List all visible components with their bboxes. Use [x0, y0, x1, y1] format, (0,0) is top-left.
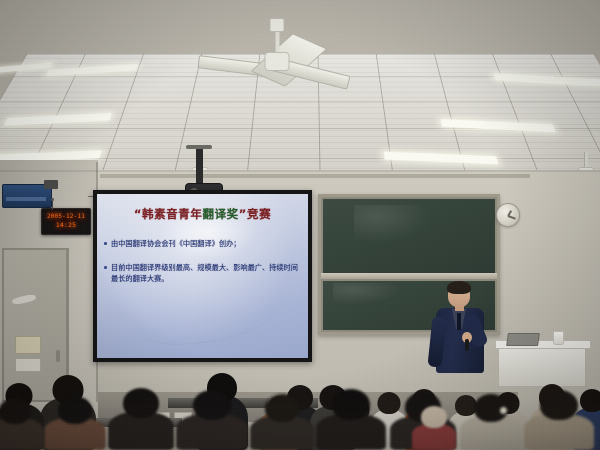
person-head	[540, 390, 578, 420]
blackboard-glare	[354, 205, 433, 244]
audience-member	[250, 400, 314, 450]
slide-title-highlight: 翻译奖	[202, 207, 238, 221]
amplifier-strip	[6, 197, 46, 201]
blackboard-upper-panel	[321, 197, 497, 279]
audience-member	[412, 410, 456, 450]
person-head	[0, 398, 31, 424]
audience-member	[524, 396, 594, 450]
audience	[0, 330, 600, 450]
person-head	[265, 394, 299, 422]
led-date: 2005-12-11	[47, 214, 85, 220]
audience-member	[316, 396, 386, 450]
fan-motor-housing	[265, 52, 290, 71]
slide-title-quote-close: ”	[239, 207, 247, 221]
blackboard-glare	[333, 283, 402, 305]
audience-member	[44, 402, 106, 450]
person-head	[58, 396, 92, 424]
ceiling-track	[100, 174, 530, 178]
slide-title-main: 韩素音青年	[142, 207, 203, 221]
slide-title-suffix: 竞赛	[247, 207, 271, 221]
led-clock-sign: 2005-12-11 14:25	[41, 208, 91, 235]
audience-member	[108, 394, 174, 450]
ceiling-fan	[212, 20, 342, 90]
led-sign-antenna	[52, 200, 53, 210]
wall-clock	[496, 203, 520, 227]
presenter-tie	[457, 313, 461, 330]
person-head	[332, 389, 370, 420]
person-head	[193, 390, 231, 420]
audience-member	[176, 398, 248, 450]
led-time: 14:25	[56, 222, 77, 229]
slide-title: “韩素音青年翻译奖”竞赛	[97, 206, 308, 222]
lecture-hall-photo: 2005-12-11 14:25 “韩素音青年翻译奖”竞赛	[0, 0, 600, 450]
slide-title-quote-open: “	[134, 207, 142, 221]
door-reflection	[12, 294, 37, 306]
person-head	[123, 388, 159, 418]
person-head	[421, 406, 447, 428]
audience-member	[0, 404, 44, 450]
fan-motor	[270, 18, 285, 32]
fan-rod	[584, 152, 588, 168]
projector-mount-plate	[186, 145, 212, 149]
wall-mounted-sensor	[44, 180, 58, 189]
slide-bullet-1: 由中国翻译协会会刊《中国翻译》创办；	[111, 238, 298, 249]
hair-tie	[500, 407, 507, 414]
wall-top-seam	[0, 170, 600, 172]
clock-minute-hand	[508, 215, 516, 219]
presenter-hair	[447, 281, 471, 294]
audience-member	[460, 400, 522, 450]
projector-mount-pole	[196, 148, 203, 186]
